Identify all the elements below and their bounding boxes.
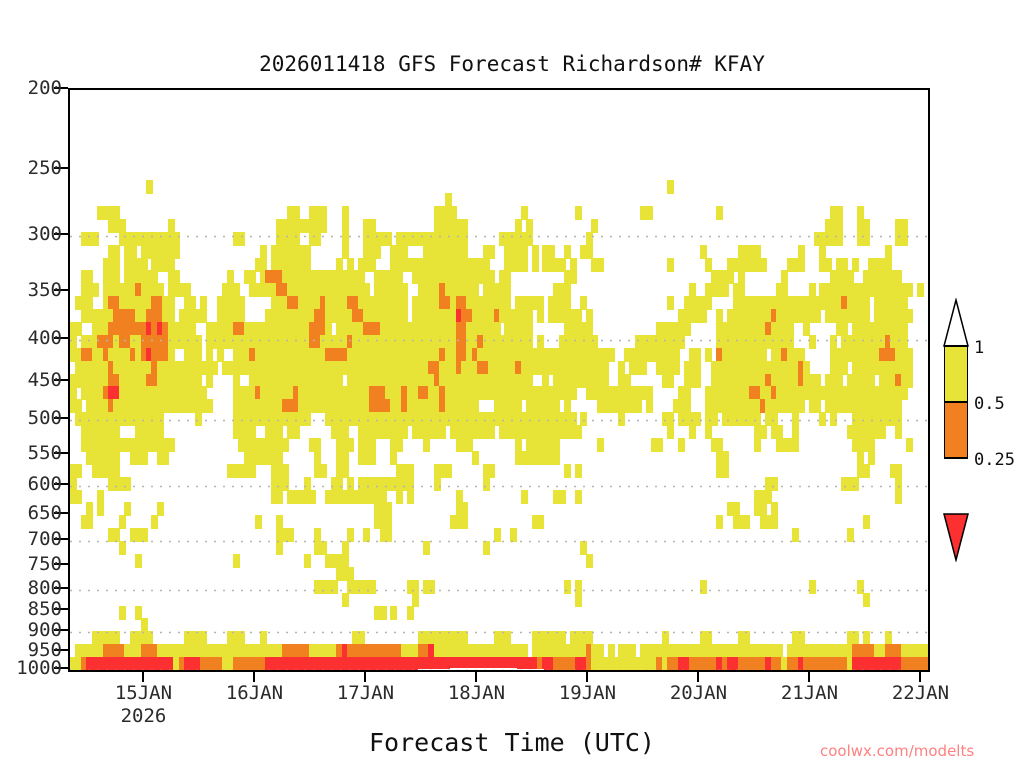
- x-axis-tick: [697, 672, 699, 682]
- credit-label: coolwx.com/modelts: [820, 742, 974, 760]
- richardson-heatmap: [70, 90, 928, 670]
- y-axis-label: 200: [12, 77, 62, 99]
- y-axis-label: 500: [12, 407, 62, 429]
- y-axis-label: 350: [12, 279, 62, 301]
- y-axis-label: 750: [12, 553, 62, 575]
- colorbar-label-025: 0.25: [974, 450, 1015, 470]
- x-axis-tick: [142, 672, 144, 682]
- y-axis-label: 850: [12, 598, 62, 620]
- y-axis-label: 700: [12, 528, 62, 550]
- x-axis-tick: [919, 672, 921, 682]
- legend-colorbar: 1 0.5 0.25: [938, 298, 1024, 562]
- colorbar-band-orange: [944, 402, 968, 458]
- page-title: 2026011418 GFS Forecast Richardson# KFAY: [0, 52, 1024, 76]
- y-axis-label: 550: [12, 442, 62, 464]
- colorbar-band-yellow: [944, 346, 968, 402]
- y-axis-label: 800: [12, 577, 62, 599]
- x-axis-label: 17JAN: [337, 682, 394, 704]
- heatmap-canvas-wrapper: [70, 90, 928, 670]
- x-axis-label: 15JAN: [115, 682, 172, 704]
- y-axis-label: 400: [12, 327, 62, 349]
- x-axis-label: 18JAN: [448, 682, 505, 704]
- plot-area: [68, 88, 930, 672]
- y-axis-label: 600: [12, 473, 62, 495]
- y-axis-label: 250: [12, 157, 62, 179]
- y-axis-label: 450: [12, 369, 62, 391]
- x-axis-label: 16JAN: [226, 682, 283, 704]
- x-axis-tick: [364, 672, 366, 682]
- x-axis-label: 19JAN: [559, 682, 616, 704]
- y-axis-label: 300: [12, 223, 62, 245]
- x-axis-tick: [808, 672, 810, 682]
- colorbar-label-1: 1: [974, 338, 984, 358]
- y-axis-label: 1000: [12, 657, 62, 679]
- y-axis-label: 650: [12, 502, 62, 524]
- colorbar-sep-025: [944, 457, 968, 459]
- colorbar-sep-05: [944, 401, 968, 403]
- colorbar-sep-1: [944, 345, 968, 347]
- x-axis-label: 21JAN: [781, 682, 838, 704]
- colorbar-bottom-arrow-icon: [944, 514, 968, 560]
- chart-page: 2026011418 GFS Forecast Richardson# KFAY…: [0, 0, 1024, 768]
- x-axis-label: 20JAN: [670, 682, 727, 704]
- x-axis-tick: [586, 672, 588, 682]
- x-axis-label: 22JAN: [892, 682, 949, 704]
- colorbar-label-05: 0.5: [974, 394, 1005, 414]
- x-axis-year-label: 2026: [121, 705, 167, 727]
- x-axis-tick: [475, 672, 477, 682]
- x-axis-tick: [253, 672, 255, 682]
- y-axis: 2002503003504004505005506006507007508008…: [0, 88, 62, 672]
- colorbar-top-arrow-icon: [944, 300, 968, 346]
